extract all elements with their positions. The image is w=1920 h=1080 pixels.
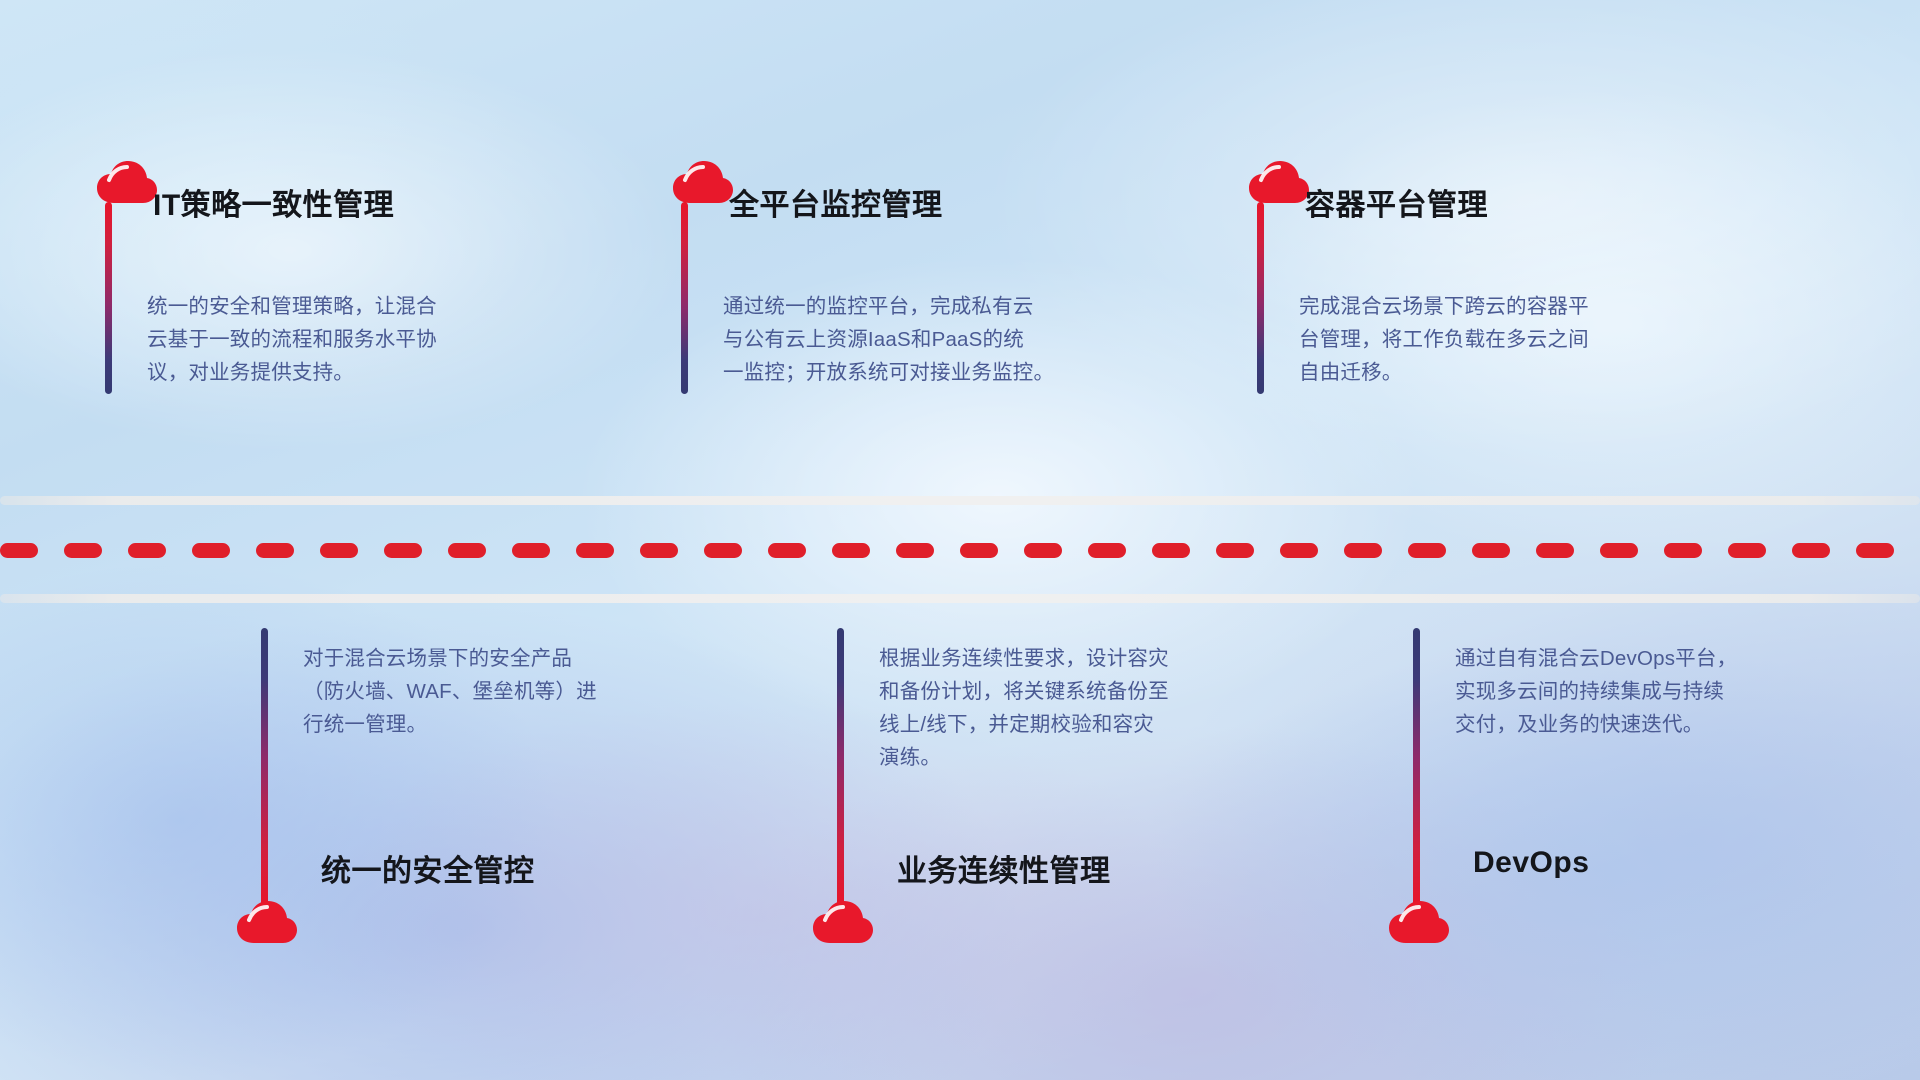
dash-segment xyxy=(1664,543,1702,558)
description-line: 与公有云上资源IaaS和PaaS的统 xyxy=(723,323,1123,356)
description-line: 通过自有混合云DevOps平台， xyxy=(1455,642,1855,675)
description-line: 统一的安全和管理策略，让混合 xyxy=(147,290,547,323)
connector-stem xyxy=(1257,202,1264,394)
description-line: 根据业务连续性要求，设计容灾 xyxy=(879,642,1279,675)
connector-stem xyxy=(261,628,268,908)
card-title: IT策略一致性管理 xyxy=(153,180,394,224)
card-description: 完成混合云场景下跨云的容器平 台管理，将工作负载在多云之间 自由迁移。 xyxy=(1299,290,1699,389)
dash-segment xyxy=(704,543,742,558)
dash-segment xyxy=(768,543,806,558)
dash-segment xyxy=(1344,543,1382,558)
dash-segment xyxy=(1216,543,1254,558)
connector-stem xyxy=(681,202,688,394)
dash-segment xyxy=(832,543,870,558)
background-wisp xyxy=(0,560,560,1080)
cloud-icon xyxy=(1248,160,1310,204)
card-title: 全平台监控管理 xyxy=(729,180,943,224)
dash-segment xyxy=(384,543,422,558)
card-title: 统一的安全管控 xyxy=(321,846,535,890)
dash-segment xyxy=(1088,543,1126,558)
connector-stem xyxy=(105,202,112,394)
dash-segment xyxy=(1280,543,1318,558)
description-line: 通过统一的监控平台，完成私有云 xyxy=(723,290,1123,323)
cloud-icon xyxy=(236,900,298,944)
dash-segment xyxy=(512,543,550,558)
dash-segment xyxy=(640,543,678,558)
description-line: 交付，及业务的快速迭代。 xyxy=(1455,708,1855,741)
dash-segment xyxy=(960,543,998,558)
connector-stem xyxy=(837,628,844,908)
cloud-icon xyxy=(96,160,158,204)
dash-segment xyxy=(1408,543,1446,558)
description-line: 线上/线下，并定期校验和容灾 xyxy=(879,708,1279,741)
description-line: 对于混合云场景下的安全产品 xyxy=(303,642,703,675)
dash-segment xyxy=(256,543,294,558)
background-wisp xyxy=(980,0,1920,460)
card-title: 容器平台管理 xyxy=(1305,180,1488,224)
card-description: 统一的安全和管理策略，让混合 云基于一致的流程和服务水平协 议，对业务提供支持。 xyxy=(147,290,547,389)
cloud-icon xyxy=(1388,900,1450,944)
dash-segment xyxy=(1600,543,1638,558)
dash-segment xyxy=(0,543,38,558)
divider-line-top xyxy=(0,496,1920,505)
description-line: 实现多云间的持续集成与持续 xyxy=(1455,675,1855,708)
dash-segment xyxy=(192,543,230,558)
connector-stem xyxy=(1413,628,1420,908)
dash-segment xyxy=(576,543,614,558)
dashed-separator xyxy=(0,543,1920,558)
description-line: 演练。 xyxy=(879,741,1279,774)
dash-segment xyxy=(320,543,358,558)
card-description: 根据业务连续性要求，设计容灾 和备份计划，将关键系统备份至 线上/线下，并定期校… xyxy=(879,642,1279,774)
description-line: 台管理，将工作负载在多云之间 xyxy=(1299,323,1699,356)
dash-segment xyxy=(64,543,102,558)
dash-segment xyxy=(1152,543,1190,558)
cloud-icon xyxy=(672,160,734,204)
dash-segment xyxy=(896,543,934,558)
description-line: 议，对业务提供支持。 xyxy=(147,356,547,389)
dash-segment xyxy=(1536,543,1574,558)
dash-segment xyxy=(1472,543,1510,558)
card-description: 通过统一的监控平台，完成私有云 与公有云上资源IaaS和PaaS的统 一监控；开… xyxy=(723,290,1123,389)
dash-segment xyxy=(448,543,486,558)
divider-line-bottom xyxy=(0,594,1920,603)
description-line: （防火墙、WAF、堡垒机等）进 xyxy=(303,675,703,708)
description-line: 完成混合云场景下跨云的容器平 xyxy=(1299,290,1699,323)
dash-segment xyxy=(128,543,166,558)
dash-segment xyxy=(1024,543,1062,558)
card-title: 业务连续性管理 xyxy=(897,846,1111,890)
card-title: DevOps xyxy=(1473,846,1589,880)
card-description: 对于混合云场景下的安全产品 （防火墙、WAF、堡垒机等）进 行统一管理。 xyxy=(303,642,703,741)
description-line: 自由迁移。 xyxy=(1299,356,1699,389)
card-description: 通过自有混合云DevOps平台， 实现多云间的持续集成与持续 交付，及业务的快速… xyxy=(1455,642,1855,741)
dash-segment xyxy=(1856,543,1894,558)
cloud-icon xyxy=(812,900,874,944)
description-line: 和备份计划，将关键系统备份至 xyxy=(879,675,1279,708)
dash-segment xyxy=(1792,543,1830,558)
description-line: 行统一管理。 xyxy=(303,708,703,741)
infographic-canvas: IT策略一致性管理 统一的安全和管理策略，让混合 云基于一致的流程和服务水平协 … xyxy=(0,0,1920,1080)
description-line: 一监控；开放系统可对接业务监控。 xyxy=(723,356,1123,389)
dash-segment xyxy=(1728,543,1766,558)
description-line: 云基于一致的流程和服务水平协 xyxy=(147,323,547,356)
